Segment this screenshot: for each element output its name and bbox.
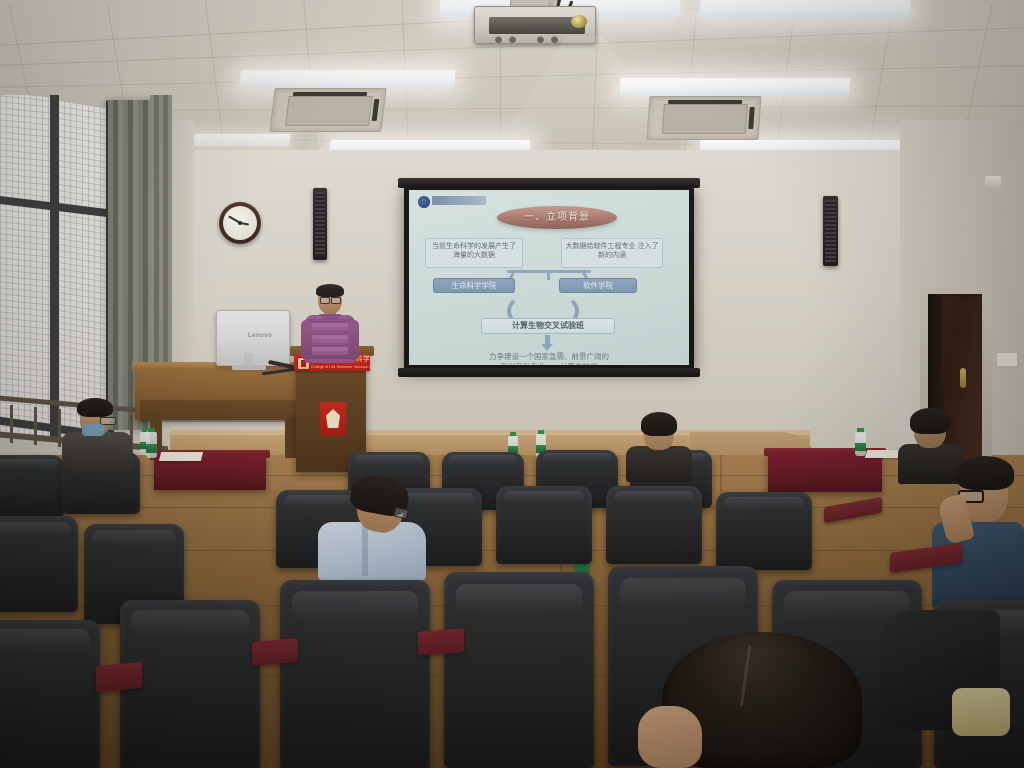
light-switch-panel[interactable] (996, 352, 1018, 367)
ceiling-ac-unit (269, 88, 386, 132)
audience-person-foreground (644, 628, 874, 768)
paper-sheet (159, 452, 203, 461)
seat[interactable] (280, 580, 430, 768)
side-table-right (768, 452, 882, 492)
slide-box-left: 当前生命科学的发展产生了 海量的大数据 (425, 238, 523, 268)
screen-frame-bottom (398, 368, 700, 377)
slide-dept-right: 软件学院 (559, 278, 637, 293)
ceiling-light-panel (239, 70, 456, 88)
seat[interactable] (716, 492, 812, 570)
ceiling-light-panel (620, 78, 851, 95)
wall-speaker (313, 188, 327, 260)
slide-conclusion-line2: 新兴交叉专业——计算生物学 (449, 358, 649, 365)
presenter-hair (316, 284, 344, 297)
slide-dept-left: 生命科学学院 (433, 278, 515, 293)
lecture-hall-photo: 一、立项背景 当前生命科学的发展产生了 海量的大数据 大数据给软件工程专业 注入… (0, 0, 1024, 768)
armrest (252, 638, 298, 666)
window-curtain (150, 95, 172, 395)
seat[interactable] (0, 516, 78, 612)
projector (470, 0, 600, 52)
podium-crest-icon (320, 402, 346, 436)
seat[interactable] (0, 455, 64, 517)
ceiling-light-panel (699, 0, 910, 18)
foreground-item (952, 688, 1010, 736)
seat[interactable] (496, 486, 592, 564)
lenovo-logo: Lenovo (248, 333, 282, 340)
door-handle[interactable] (960, 368, 966, 388)
audience-person-center-dark (626, 412, 692, 476)
ceiling-sensor (985, 176, 1001, 188)
foreground-hand (638, 706, 702, 768)
audience-person-blue-shirt (318, 476, 428, 576)
ceiling-ac-unit (646, 96, 761, 140)
seat[interactable] (606, 486, 702, 564)
shirt-seam (362, 524, 368, 576)
paper-sheet (865, 450, 902, 458)
slide-surface: 一、立项背景 当前生命科学的发展产生了 海量的大数据 大数据给软件工程专业 注入… (409, 190, 689, 365)
water-bottle[interactable] (855, 428, 866, 456)
slide-university-logo (417, 195, 487, 207)
seat[interactable] (444, 572, 594, 768)
armrest (418, 628, 464, 655)
water-bottle[interactable] (146, 428, 157, 458)
slide-title: 一、立项背景 (497, 206, 617, 229)
slide-connector-stem (547, 270, 550, 280)
monitor-foot (232, 365, 266, 370)
slide-box-right: 大数据给软件工程专业 注入了新的内涵 (561, 238, 663, 268)
face-mask (82, 424, 104, 436)
armrest (96, 662, 142, 693)
wall-speaker (823, 196, 838, 266)
slide-result-box: 计算生物交叉试验班 (481, 318, 615, 334)
wall-clock (219, 202, 261, 244)
seat[interactable] (0, 620, 100, 768)
audience-person-right-glasses (932, 456, 1024, 606)
audience-person-front-left (62, 398, 132, 468)
presenter (300, 286, 360, 366)
